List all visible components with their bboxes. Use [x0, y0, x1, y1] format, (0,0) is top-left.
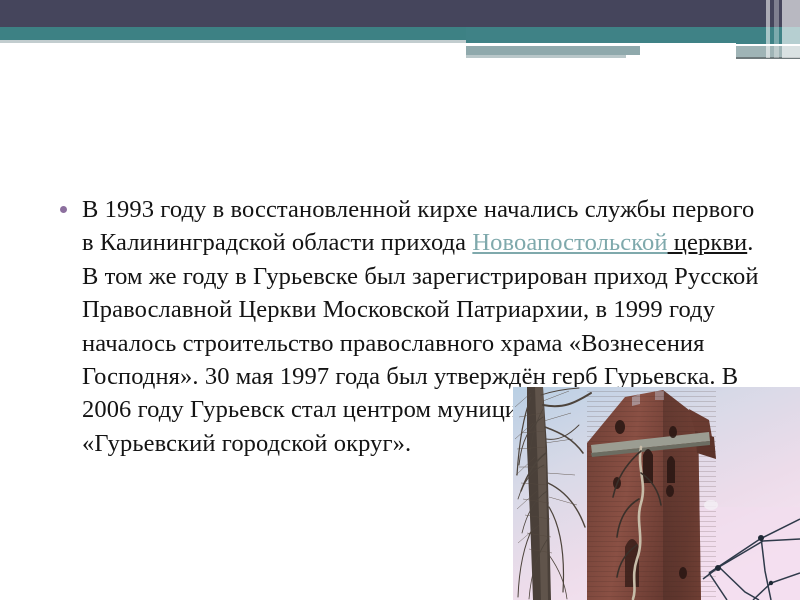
- slide-header-decoration: [0, 0, 800, 64]
- header-vertical-stripe-3: [782, 0, 800, 58]
- bullet-dot-icon: [60, 206, 67, 213]
- header-grey-step-secondary: [466, 55, 626, 58]
- header-vertical-stripe-1: [766, 0, 770, 58]
- church-tower-photo: [513, 387, 800, 600]
- church-tower-photo-graphic: [513, 387, 800, 600]
- hyperlink-tserkvi[interactable]: церкви: [668, 229, 748, 256]
- hyperlink-novoapostolskoy[interactable]: Новоапостольской: [472, 229, 667, 256]
- header-dark-band: [0, 0, 800, 27]
- presentation-slide: В 1993 году в восстановленной кирхе нача…: [0, 0, 800, 600]
- header-step-edge: [466, 43, 736, 45]
- header-teal-step: [466, 27, 800, 44]
- header-vertical-stripe-2: [774, 0, 779, 58]
